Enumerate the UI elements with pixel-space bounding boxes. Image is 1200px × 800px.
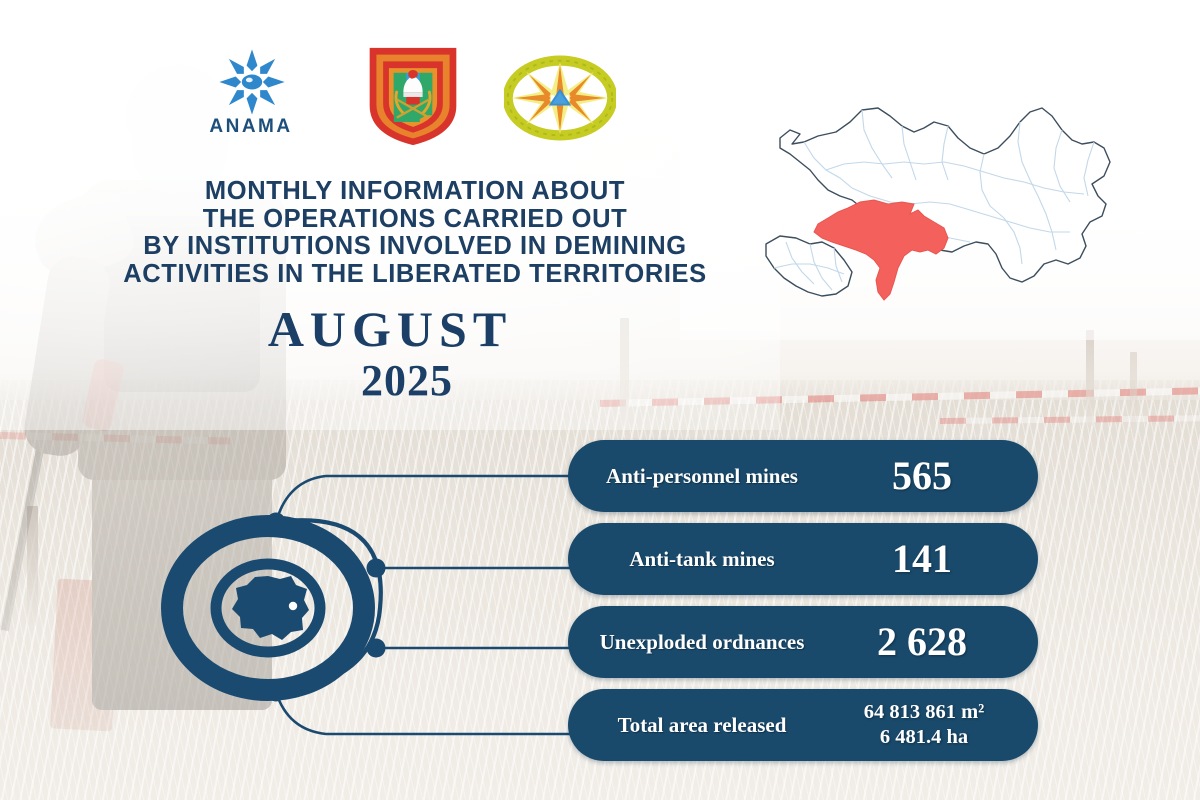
stat-value-hectares: 6 481.4 ha xyxy=(820,725,1028,750)
stat-card-unexploded-ordnances[interactable]: Unexploded ordnances 2 628 xyxy=(568,606,1038,678)
stat-value: 2 628 xyxy=(820,621,1038,663)
stat-value: 141 xyxy=(820,538,1038,580)
azerbaijan-map xyxy=(752,92,1114,318)
stat-card-total-area-released[interactable]: Total area released 64 813 861 m² 6 481.… xyxy=(568,689,1038,761)
infographic-poster: ANAMA xyxy=(0,0,1200,800)
stat-label: Anti-tank mines xyxy=(568,548,820,571)
report-period: AUGUST 2025 xyxy=(120,302,660,406)
report-year: 2025 xyxy=(120,356,660,406)
stat-label: Anti-personnel mines xyxy=(568,465,820,488)
mine-target-emblem xyxy=(160,430,600,760)
stat-value: 565 xyxy=(820,455,1038,497)
stat-card-list: Anti-personnel mines 565 Anti-tank mines… xyxy=(568,440,1038,772)
ministry-of-emergency-situations-emblem xyxy=(504,50,616,146)
anama-wordmark: ANAMA xyxy=(196,116,306,138)
stat-label: Unexploded ordnances xyxy=(568,631,820,654)
map-exclave-outline xyxy=(766,236,852,296)
stat-value-group: 64 813 861 m² 6 481.4 ha xyxy=(820,700,1038,750)
ministry-of-defence-emblem xyxy=(364,44,462,148)
emblem-core-highlight xyxy=(289,602,297,610)
stat-value-square-meters: 64 813 861 m² xyxy=(864,701,985,723)
marker-stake xyxy=(1130,352,1137,430)
stat-card-anti-tank-mines[interactable]: Anti-tank mines 141 xyxy=(568,523,1038,595)
report-month: AUGUST xyxy=(120,302,660,356)
stat-card-anti-personnel-mines[interactable]: Anti-personnel mines 565 xyxy=(568,440,1038,512)
emblem-mine-core xyxy=(232,576,309,640)
title-line-3: BY INSTITUTIONS INVOLVED IN DEMINING xyxy=(74,233,756,261)
wreath-star-icon xyxy=(504,50,616,146)
stat-label: Total area released xyxy=(568,714,820,737)
title-line-4: ACTIVITIES IN THE LIBERATED TERRITORIES xyxy=(74,261,756,289)
logo-row: ANAMA xyxy=(0,40,700,150)
title-line-2: THE OPERATIONS CARRIED OUT xyxy=(74,206,756,234)
shield-emblem-icon xyxy=(364,44,462,148)
title-line-1: MONTHLY INFORMATION ABOUT xyxy=(74,178,756,206)
eight-pointed-star-icon xyxy=(218,48,286,116)
marker-stake xyxy=(1086,330,1094,426)
azerbaijan-map-svg xyxy=(752,92,1114,318)
anama-logo: ANAMA xyxy=(196,48,306,152)
page-title: MONTHLY INFORMATION ABOUT THE OPERATIONS… xyxy=(74,178,756,288)
